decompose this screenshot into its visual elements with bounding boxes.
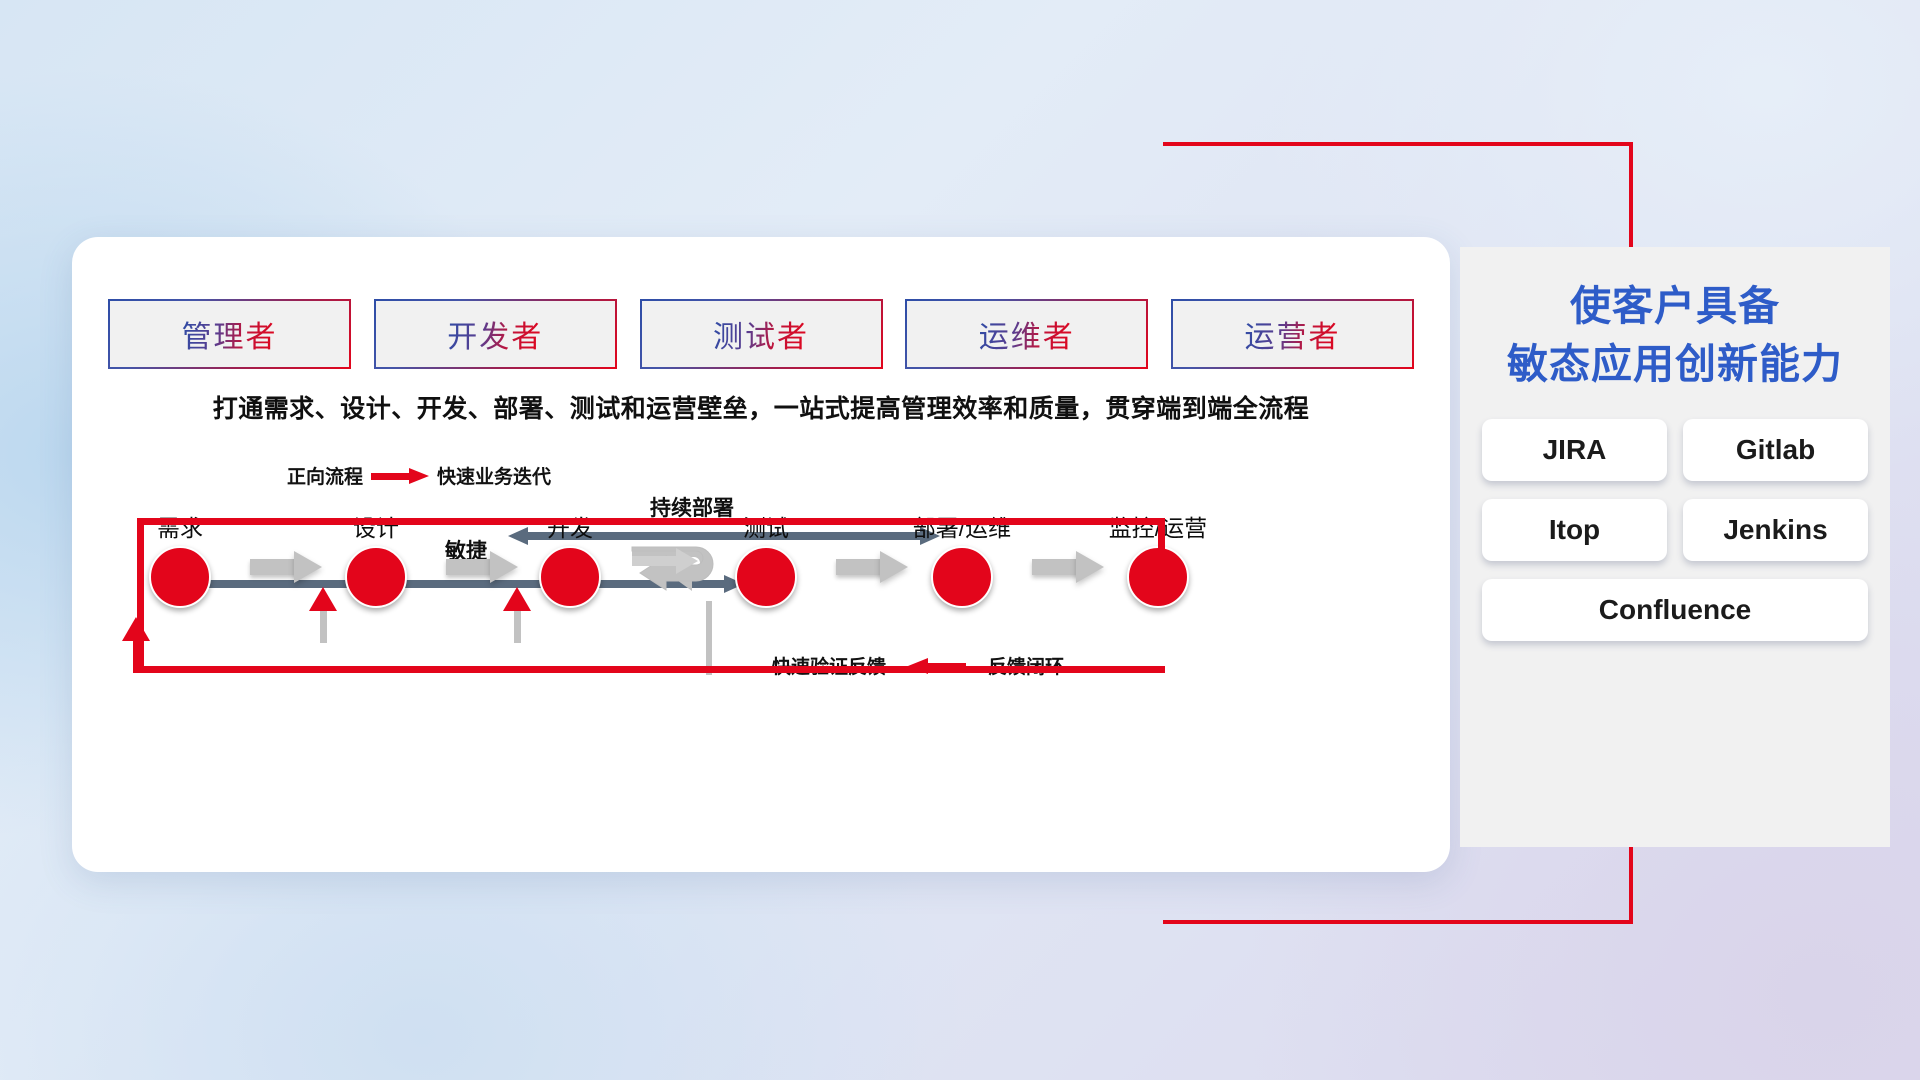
panel-title-line1: 使客户具备 xyxy=(1482,277,1868,335)
gray-up-arrow-develop xyxy=(514,609,521,643)
role-box-developer[interactable]: 开发者 xyxy=(374,299,617,369)
role-box-operations[interactable]: 运营者 xyxy=(1171,299,1414,369)
red-right-arrow-icon xyxy=(371,468,429,484)
legend-forward-left-label: 正向流程 xyxy=(287,462,363,489)
tool-card-grid: JIRA Gitlab Itop Jenkins Confluence xyxy=(1482,419,1868,641)
role-box-tester[interactable]: 测试者 xyxy=(640,299,883,369)
value-proposition-panel: 使客户具备 敏态应用创新能力 JIRA Gitlab Itop Jenkins … xyxy=(1460,247,1890,847)
legend-forward-flow: 正向流程 快速业务迭代 xyxy=(287,462,551,489)
tool-card-jenkins[interactable]: Jenkins xyxy=(1683,499,1868,561)
role-label: 运维者 xyxy=(979,312,1075,356)
panel-title-line2: 敏态应用创新能力 xyxy=(1482,335,1868,393)
role-label: 管理者 xyxy=(182,312,278,356)
red-loop-down-arrow xyxy=(1158,518,1165,579)
tool-card-gitlab[interactable]: Gitlab xyxy=(1683,419,1868,481)
role-box-ops[interactable]: 运维者 xyxy=(905,299,1148,369)
subtitle-text: 打通需求、设计、开发、部署、测试和运营壁垒，一站式提高管理效率和质量，贯穿端到端… xyxy=(72,389,1450,425)
red-feedback-loop-path xyxy=(137,518,1165,673)
tool-card-itop[interactable]: Itop xyxy=(1482,499,1667,561)
role-label: 运营者 xyxy=(1245,312,1341,356)
panel-title: 使客户具备 敏态应用创新能力 xyxy=(1482,277,1868,393)
tool-card-confluence[interactable]: Confluence xyxy=(1482,579,1868,641)
gray-up-arrow-design xyxy=(320,609,327,643)
red-up-arrow-requirement xyxy=(133,639,140,673)
role-label: 开发者 xyxy=(447,312,543,356)
role-label: 测试者 xyxy=(713,312,809,356)
role-box-manager[interactable]: 管理者 xyxy=(108,299,351,369)
tool-card-jira[interactable]: JIRA xyxy=(1482,419,1667,481)
legend-forward-right-label: 快速业务迭代 xyxy=(437,462,551,489)
role-box-row: 管理者 开发者 测试者 运维者 运营者 xyxy=(108,299,1414,369)
main-diagram-card: 管理者 开发者 测试者 运维者 运营者 打通需求、设计、开发、部署、测试和运营壁… xyxy=(72,237,1450,872)
